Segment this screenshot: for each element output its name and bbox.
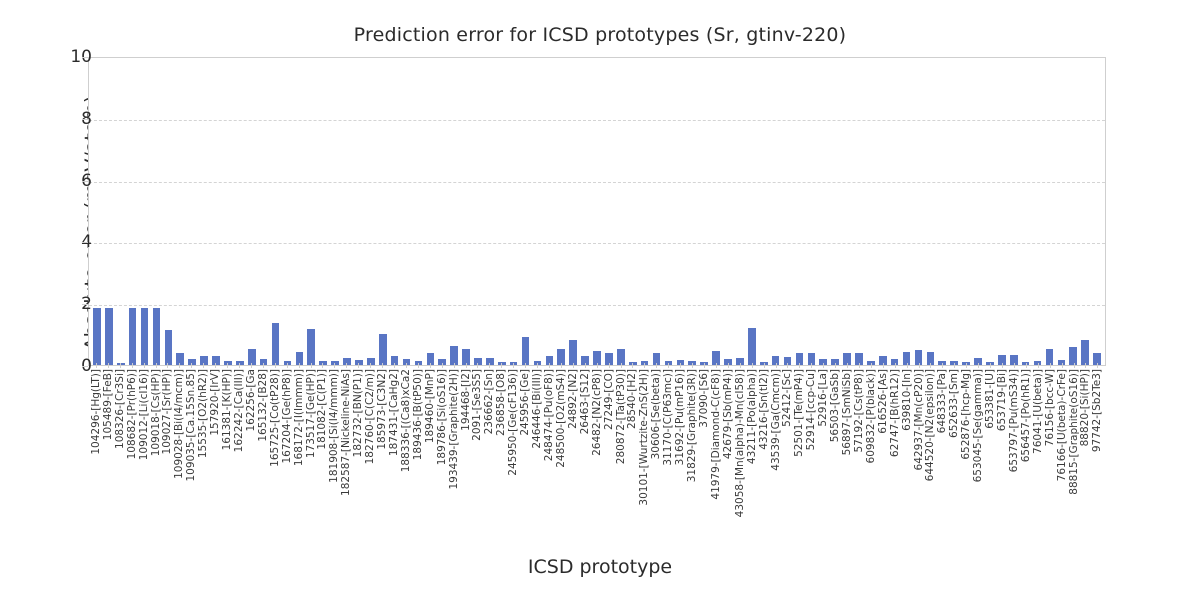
bar-slot [829, 58, 841, 365]
bar-slot [412, 58, 424, 365]
bar-slot [365, 58, 377, 365]
x-tick-label: 108682-[Pr(hP6)] [126, 369, 137, 459]
x-tick-mark [883, 363, 884, 368]
x-tick-mark [871, 363, 872, 368]
x-tick-label: 173517-[Ge(HP)] [305, 369, 316, 458]
x-tick-label: 26482-[N2(cP8)] [591, 369, 602, 456]
y-tick-mark-2 [82, 304, 88, 305]
bar-slot [341, 58, 353, 365]
x-tick-mark [1014, 363, 1015, 368]
bar-slot [639, 58, 651, 365]
x-tick-mark [1002, 363, 1003, 368]
x-tick-label: 653381-[U] [985, 369, 996, 429]
x-tick-label: 56503-[GaSb] [830, 369, 841, 442]
x-tick-mark [740, 363, 741, 368]
bar-slot [936, 58, 948, 365]
x-tick-mark [1050, 363, 1051, 368]
bar-slot [901, 58, 913, 365]
bar-slot [770, 58, 782, 365]
x-tick-label: 56897-[SmNiSb] [842, 369, 853, 455]
x-tick-label: 52914-[ccp-Cu] [806, 369, 817, 450]
x-tick-label: 52501-[Te(mP4)] [794, 369, 805, 457]
x-tick-mark [203, 363, 204, 368]
x-tick-mark [966, 363, 967, 368]
bar [129, 308, 137, 365]
x-tick-label: 52916-[La] [818, 369, 829, 427]
bar-slot [984, 58, 996, 365]
x-tick-label: 157920-[IrV] [210, 369, 221, 436]
bar [153, 308, 161, 365]
x-tick-mark [656, 363, 657, 368]
x-tick-label: 76041-[U(beta)] [1033, 369, 1044, 454]
x-tick-label: 57192-[Cs(tP8)] [854, 369, 865, 453]
bar-slot [567, 58, 579, 365]
x-tick-mark [609, 363, 610, 368]
x-tick-label: 104296-[Hg(LT)] [91, 369, 102, 455]
x-tick-label: 165132-[B28] [258, 369, 269, 442]
x-tick-label: 168172-[I(Immm)] [293, 369, 304, 466]
x-tick-label: 43211-[Po(alpha)] [746, 369, 757, 464]
bar-slot [1055, 58, 1067, 365]
x-tick-mark [239, 363, 240, 368]
x-tick-label: 167204-[Ge(hP8)] [281, 369, 292, 464]
bar [141, 308, 149, 365]
bar-slot [889, 58, 901, 365]
x-tick-label: 165725-[Co(tP28)] [270, 369, 281, 467]
x-tick-mark [346, 363, 347, 368]
x-tick-mark [942, 363, 943, 368]
x-tick-label: 62747-[B(hR12)] [889, 369, 900, 457]
x-tick-mark [787, 363, 788, 368]
x-tick-label: 648333-[Pa] [937, 369, 948, 433]
x-tick-label: 194468-[I2] [460, 369, 471, 431]
bar-slot [532, 58, 544, 365]
x-tick-mark [954, 363, 955, 368]
x-tick-mark [704, 363, 705, 368]
x-tick-label: 24892-[N2] [568, 369, 579, 429]
bar-slot [805, 58, 817, 365]
y-tick-mark-8 [82, 119, 88, 120]
x-tick-label: 182732-[BN(P1)] [353, 369, 364, 457]
x-tick-label: 188336-[(Ca8)xCa2 [401, 369, 412, 472]
x-tick-label: 109012-[Li(cI16)] [138, 369, 149, 460]
x-tick-mark [680, 363, 681, 368]
bar-slot [353, 58, 365, 365]
bar-slot [972, 58, 984, 365]
bar-slot [543, 58, 555, 365]
bar [105, 308, 113, 365]
x-tick-label: 161381-[K(HP)] [222, 369, 233, 450]
bar-slot [484, 58, 496, 365]
x-tick-mark [334, 363, 335, 368]
x-tick-mark [167, 363, 168, 368]
bar-slot [841, 58, 853, 365]
x-tick-mark [120, 363, 121, 368]
x-tick-mark [1062, 363, 1063, 368]
x-tick-mark [728, 363, 729, 368]
bar-slot [960, 58, 972, 365]
x-tick-label: 108326-[Cr3Si] [115, 369, 126, 449]
x-tick-mark [561, 363, 562, 368]
bar-slot [734, 58, 746, 365]
bar-slot [948, 58, 960, 365]
bar-slot [103, 58, 115, 365]
bar [307, 329, 315, 365]
bar-slot [817, 58, 829, 365]
x-tick-label: 37090-[S6] [699, 369, 710, 428]
x-tick-mark [275, 363, 276, 368]
bar-slot [1032, 58, 1044, 365]
x-tick-mark [454, 363, 455, 368]
x-tick-label: 642937-[Mn(cP20)] [913, 369, 924, 470]
x-tick-mark [287, 363, 288, 368]
x-tick-mark [215, 363, 216, 368]
x-tick-mark [621, 363, 622, 368]
x-tick-mark [644, 363, 645, 368]
x-tick-label: 236858-[O8] [496, 369, 507, 436]
x-tick-mark [191, 363, 192, 368]
x-tick-mark [1038, 363, 1039, 368]
x-tick-label: 193439-[Graphite(2H)] [448, 369, 459, 490]
x-tick-label: 189786-[Si(oS16)] [436, 369, 447, 465]
x-tick-mark [919, 363, 920, 368]
x-tick-label: 42679-[Sb(mP4)] [723, 369, 734, 459]
bar-slot [722, 58, 734, 365]
x-tick-mark [835, 363, 836, 368]
bar-slot [1079, 58, 1091, 365]
x-tick-mark [442, 363, 443, 368]
bar-slot [591, 58, 603, 365]
x-tick-mark [179, 363, 180, 368]
y-tick-mark-4 [82, 242, 88, 243]
x-tick-mark [692, 363, 693, 368]
bar-slot [174, 58, 186, 365]
x-tick-label: 236662-[Sn] [484, 369, 495, 434]
bar-slot [293, 58, 305, 365]
x-tick-mark [716, 363, 717, 368]
bar-slot [579, 58, 591, 365]
x-tick-mark [549, 363, 550, 368]
x-tick-label: 189436-[B(tP50)] [413, 369, 424, 460]
bar-slot [793, 58, 805, 365]
x-tick-label: 653719-[Bi] [997, 369, 1008, 431]
bar-series [89, 58, 1105, 365]
bar-slot [663, 58, 675, 365]
bar-slot [270, 58, 282, 365]
bar-slot [913, 58, 925, 365]
bar [165, 330, 173, 365]
x-tick-label: 31170-[C(P63mc)] [663, 369, 674, 466]
bar-slot [555, 58, 567, 365]
x-tick-mark [251, 363, 252, 368]
x-tick-mark [752, 363, 753, 368]
x-tick-label: 246446-[Bi(III)] [532, 369, 543, 449]
bar [748, 328, 756, 365]
x-tick-mark [489, 363, 490, 368]
y-tick-mark-0 [82, 366, 88, 367]
bar-slot [436, 58, 448, 365]
x-tick-mark [96, 363, 97, 368]
bar-slot [520, 58, 532, 365]
x-tick-mark [1085, 363, 1086, 368]
x-tick-label: 30606-[Se(beta)] [651, 369, 662, 459]
bar [569, 340, 577, 365]
bar-slot [1020, 58, 1032, 365]
x-tick-mark [144, 363, 145, 368]
x-tick-label: 109035-[Ca.15Sn.85] [186, 369, 197, 482]
bar-slot [401, 58, 413, 365]
bar-slot [329, 58, 341, 365]
y-tick-mark-6 [82, 181, 88, 182]
x-tick-label: 162242-[Ca(III)] [234, 369, 245, 452]
y-tick-mark-10 [82, 57, 88, 58]
x-tick-label: 656457-[Po(hR1)] [1021, 369, 1032, 462]
x-tick-label: 653797-[Pu(mS34)] [1009, 369, 1020, 472]
x-tick-mark [501, 363, 502, 368]
bar-slot [127, 58, 139, 365]
x-tick-mark [847, 363, 848, 368]
bar-slot [710, 58, 722, 365]
bar-slot [424, 58, 436, 365]
bar-slot [651, 58, 663, 365]
x-tick-mark [776, 363, 777, 368]
x-tick-mark [1097, 363, 1098, 368]
x-tick-mark [108, 363, 109, 368]
x-tick-mark [382, 363, 383, 368]
x-tick-label: 162256-[Ga [246, 369, 257, 432]
x-tick-label: 181082-[C(P1)] [317, 369, 328, 450]
x-axis-label: ICSD prototype [0, 556, 1200, 578]
x-tick-mark [322, 363, 323, 368]
x-tick-label: 52412-[Sc] [782, 369, 793, 427]
bar-slot [389, 58, 401, 365]
x-tick-mark [573, 363, 574, 368]
x-tick-label: 609832-[P(black)] [866, 369, 877, 463]
x-tick-label: 105489-[FeB] [103, 369, 114, 440]
bar [272, 323, 280, 365]
x-tick-label: 182587-[Nickeline-NiAs] [341, 369, 352, 496]
x-tick-label: 43539-[Ga(Cmcm)] [770, 369, 781, 471]
x-tick-label: 41979-[Diamond-C(cF8)] [711, 369, 722, 500]
x-tick-mark [525, 363, 526, 368]
x-tick-mark [585, 363, 586, 368]
bar [522, 337, 530, 365]
bar-slot [472, 58, 484, 365]
x-tick-mark [466, 363, 467, 368]
x-tick-mark [859, 363, 860, 368]
bar-slot [1008, 58, 1020, 365]
bar-slot [615, 58, 627, 365]
x-tick-mark [823, 363, 824, 368]
x-tick-mark [978, 363, 979, 368]
x-tick-label: 616526-[As] [878, 369, 889, 434]
bar-slot [1067, 58, 1079, 365]
bar-slot [210, 58, 222, 365]
x-tick-mark [311, 363, 312, 368]
x-tick-mark [513, 363, 514, 368]
x-tick-label: 15535-[O2(hR2)] [198, 369, 209, 458]
bar-slot [258, 58, 270, 365]
bar-slot [234, 58, 246, 365]
bar-slot [746, 58, 758, 365]
bar-slot [448, 58, 460, 365]
x-tick-mark [156, 363, 157, 368]
x-tick-label: 31692-[Pu(mP16)] [675, 369, 686, 465]
x-tick-label: 109018-[Cs(HP)] [150, 369, 161, 456]
bar-slot [782, 58, 794, 365]
bar-slot [698, 58, 710, 365]
x-tick-label: 31829-[Graphite(3R)] [687, 369, 698, 482]
x-tick-label: 97742-[Sb2Te3] [1092, 369, 1103, 452]
bar-slot [162, 58, 174, 365]
x-tick-label: 644520-[N2(epsilon)] [925, 369, 936, 481]
bar-slot [508, 58, 520, 365]
bar-slot [377, 58, 389, 365]
bar-slot [246, 58, 258, 365]
x-tick-label: 639810-[In] [901, 369, 912, 431]
x-tick-label: 280872-[Ta(tP30)] [615, 369, 626, 464]
bar [93, 308, 101, 365]
x-tick-mark [668, 363, 669, 368]
x-tick-mark [132, 363, 133, 368]
x-tick-label: 248500-[O2(mS4)] [556, 369, 567, 468]
bar-slot [222, 58, 234, 365]
bar-slot [496, 58, 508, 365]
x-tick-mark [597, 363, 598, 368]
x-tick-mark [406, 363, 407, 368]
x-tick-mark [811, 363, 812, 368]
x-tick-label: 28540-[H2] [627, 369, 638, 429]
bar-slot [674, 58, 686, 365]
x-tick-label: 43216-[Sn(tI2)] [758, 369, 769, 450]
bar-slot [151, 58, 163, 365]
x-tick-mark [930, 363, 931, 368]
x-tick-label: 2091-[Se3S5] [472, 369, 483, 441]
bar-slot [305, 58, 317, 365]
x-tick-label: 245956-[Ge] [520, 369, 531, 436]
bar [379, 334, 387, 365]
bar-slot [139, 58, 151, 365]
x-tick-mark [990, 363, 991, 368]
bar-slot [282, 58, 294, 365]
x-tick-mark [299, 363, 300, 368]
chart-title: Prediction error for ICSD prototypes (Sr… [0, 24, 1200, 46]
x-tick-label: 182760-[C(C2/m)] [365, 369, 376, 464]
bar-slot [865, 58, 877, 365]
x-tick-mark [537, 363, 538, 368]
bar-slot [877, 58, 889, 365]
bar-slot [1091, 58, 1103, 365]
x-tick-label: 76156-[bcc-W] [1044, 369, 1055, 446]
plot-area [88, 57, 1106, 366]
x-tick-label: 109028-[Bi(I4/mcm)] [174, 369, 185, 479]
x-tick-mark [907, 363, 908, 368]
x-tick-mark [394, 363, 395, 368]
bar-slot [924, 58, 936, 365]
x-tick-mark [418, 363, 419, 368]
x-tick-mark [1074, 363, 1075, 368]
x-tick-mark [358, 363, 359, 368]
x-tick-mark [263, 363, 264, 368]
bar-slot [853, 58, 865, 365]
x-tick-label: 653045-[Se(gamma)] [973, 369, 984, 482]
bar-slot [996, 58, 1008, 365]
x-tick-label: 187431-[CaHg2] [389, 369, 400, 456]
x-tick-mark [227, 363, 228, 368]
bar-slot [115, 58, 127, 365]
x-tick-label: 30101-[Wurtzite-ZnS(2H)] [639, 369, 650, 506]
bar-slot [603, 58, 615, 365]
x-tick-mark [632, 363, 633, 368]
bar-slot [198, 58, 210, 365]
x-tick-label: 109027-[Sr(HP)] [162, 369, 173, 454]
bar-slot [686, 58, 698, 365]
bar-slot [758, 58, 770, 365]
bar-slot [186, 58, 198, 365]
x-tick-label: 248474-[Pu(oF8)] [544, 369, 555, 461]
x-tick-mark [430, 363, 431, 368]
x-tick-label: 245950-[Ge(cF136)] [508, 369, 519, 476]
x-tick-label: 26463-[S12] [580, 369, 591, 434]
x-tick-label: 185973-[C3N2] [377, 369, 388, 450]
x-tick-label: 27249-[CO] [603, 369, 614, 430]
x-tick-label: 88815-[Graphite(oS16)] [1068, 369, 1079, 495]
bar [1081, 340, 1089, 365]
x-tick-label: 43058-[Mn(alpha)-Mn(cI58)] [734, 369, 745, 517]
bar-slot [1044, 58, 1056, 365]
x-tick-label: 76166-[U(beta)-CrFe] [1056, 369, 1067, 481]
x-tick-label: 181908-[Si(I4/mmm)] [329, 369, 340, 483]
x-tick-mark [895, 363, 896, 368]
x-tick-mark [370, 363, 371, 368]
x-tick-label: 88820-[Si(HP)] [1080, 369, 1091, 446]
x-tick-mark [477, 363, 478, 368]
bar-slot [460, 58, 472, 365]
bar-slot [627, 58, 639, 365]
bar-slot [317, 58, 329, 365]
x-tick-label: 652876-[hcp-Mg] [961, 369, 972, 460]
x-tick-label: 652633-[Sm] [949, 369, 960, 438]
x-tick-label: 189460-[MnP] [425, 369, 436, 443]
chart-figure: Prediction error for ICSD prototypes (Sr… [0, 0, 1200, 600]
x-tick-mark [1026, 363, 1027, 368]
x-tick-mark [799, 363, 800, 368]
bar-slot [91, 58, 103, 365]
x-tick-mark [764, 363, 765, 368]
